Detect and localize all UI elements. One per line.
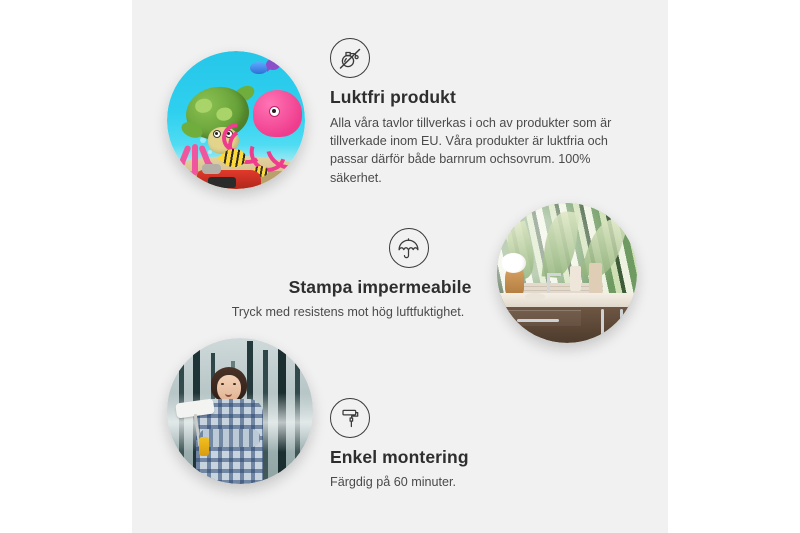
no-odor-spray-bottle-icon	[330, 38, 370, 78]
feature-odorless: Luktfri produkt Alla våra tavlor tillver…	[330, 38, 630, 187]
feature-title: Luktfri produkt	[330, 87, 630, 109]
photo-underwater[interactable]	[167, 51, 305, 189]
soap-dish	[525, 293, 545, 300]
drawer-handle	[517, 319, 559, 322]
cabinet-handle	[620, 309, 623, 337]
umbrella-icon	[389, 228, 429, 268]
feature-icon-wrap	[200, 228, 490, 268]
paint-roller-icon	[330, 398, 370, 438]
toiletry-bottle	[570, 266, 581, 291]
faucet	[547, 273, 550, 293]
shipwreck-detail	[208, 177, 236, 188]
photo-bathroom[interactable]	[497, 203, 637, 343]
yellow-striped-fish	[222, 149, 245, 167]
feature-easy-mounting: Enkel montering Färgdig på 60 minuter.	[330, 398, 580, 491]
feature-title: Stampa impermeabile	[200, 277, 490, 299]
feature-title: Enkel montering	[330, 447, 580, 469]
feature-waterproof: Stampa impermeabile Tryck med resistens …	[200, 228, 490, 321]
paint-roller-grip	[199, 437, 209, 456]
screenshot-stage: Luktfri produkt Alla våra tavlor tillver…	[0, 0, 800, 533]
photo-underwater-inner	[167, 51, 305, 189]
feature-body: Tryck med resistens mot hög luftfuktighe…	[200, 303, 490, 321]
woman-smile	[225, 392, 232, 397]
photo-bathroom-inner	[497, 203, 637, 343]
toiletry-bottle	[589, 263, 602, 294]
cabinet-handle	[601, 309, 604, 337]
feature-body: Färgdig på 60 minuter.	[330, 473, 580, 491]
photo-forest[interactable]	[167, 338, 313, 484]
photo-forest-inner	[167, 338, 313, 484]
feature-body: Alla våra tavlor tillverkas i och av pro…	[330, 114, 622, 187]
cabinet-drawer	[505, 310, 581, 326]
